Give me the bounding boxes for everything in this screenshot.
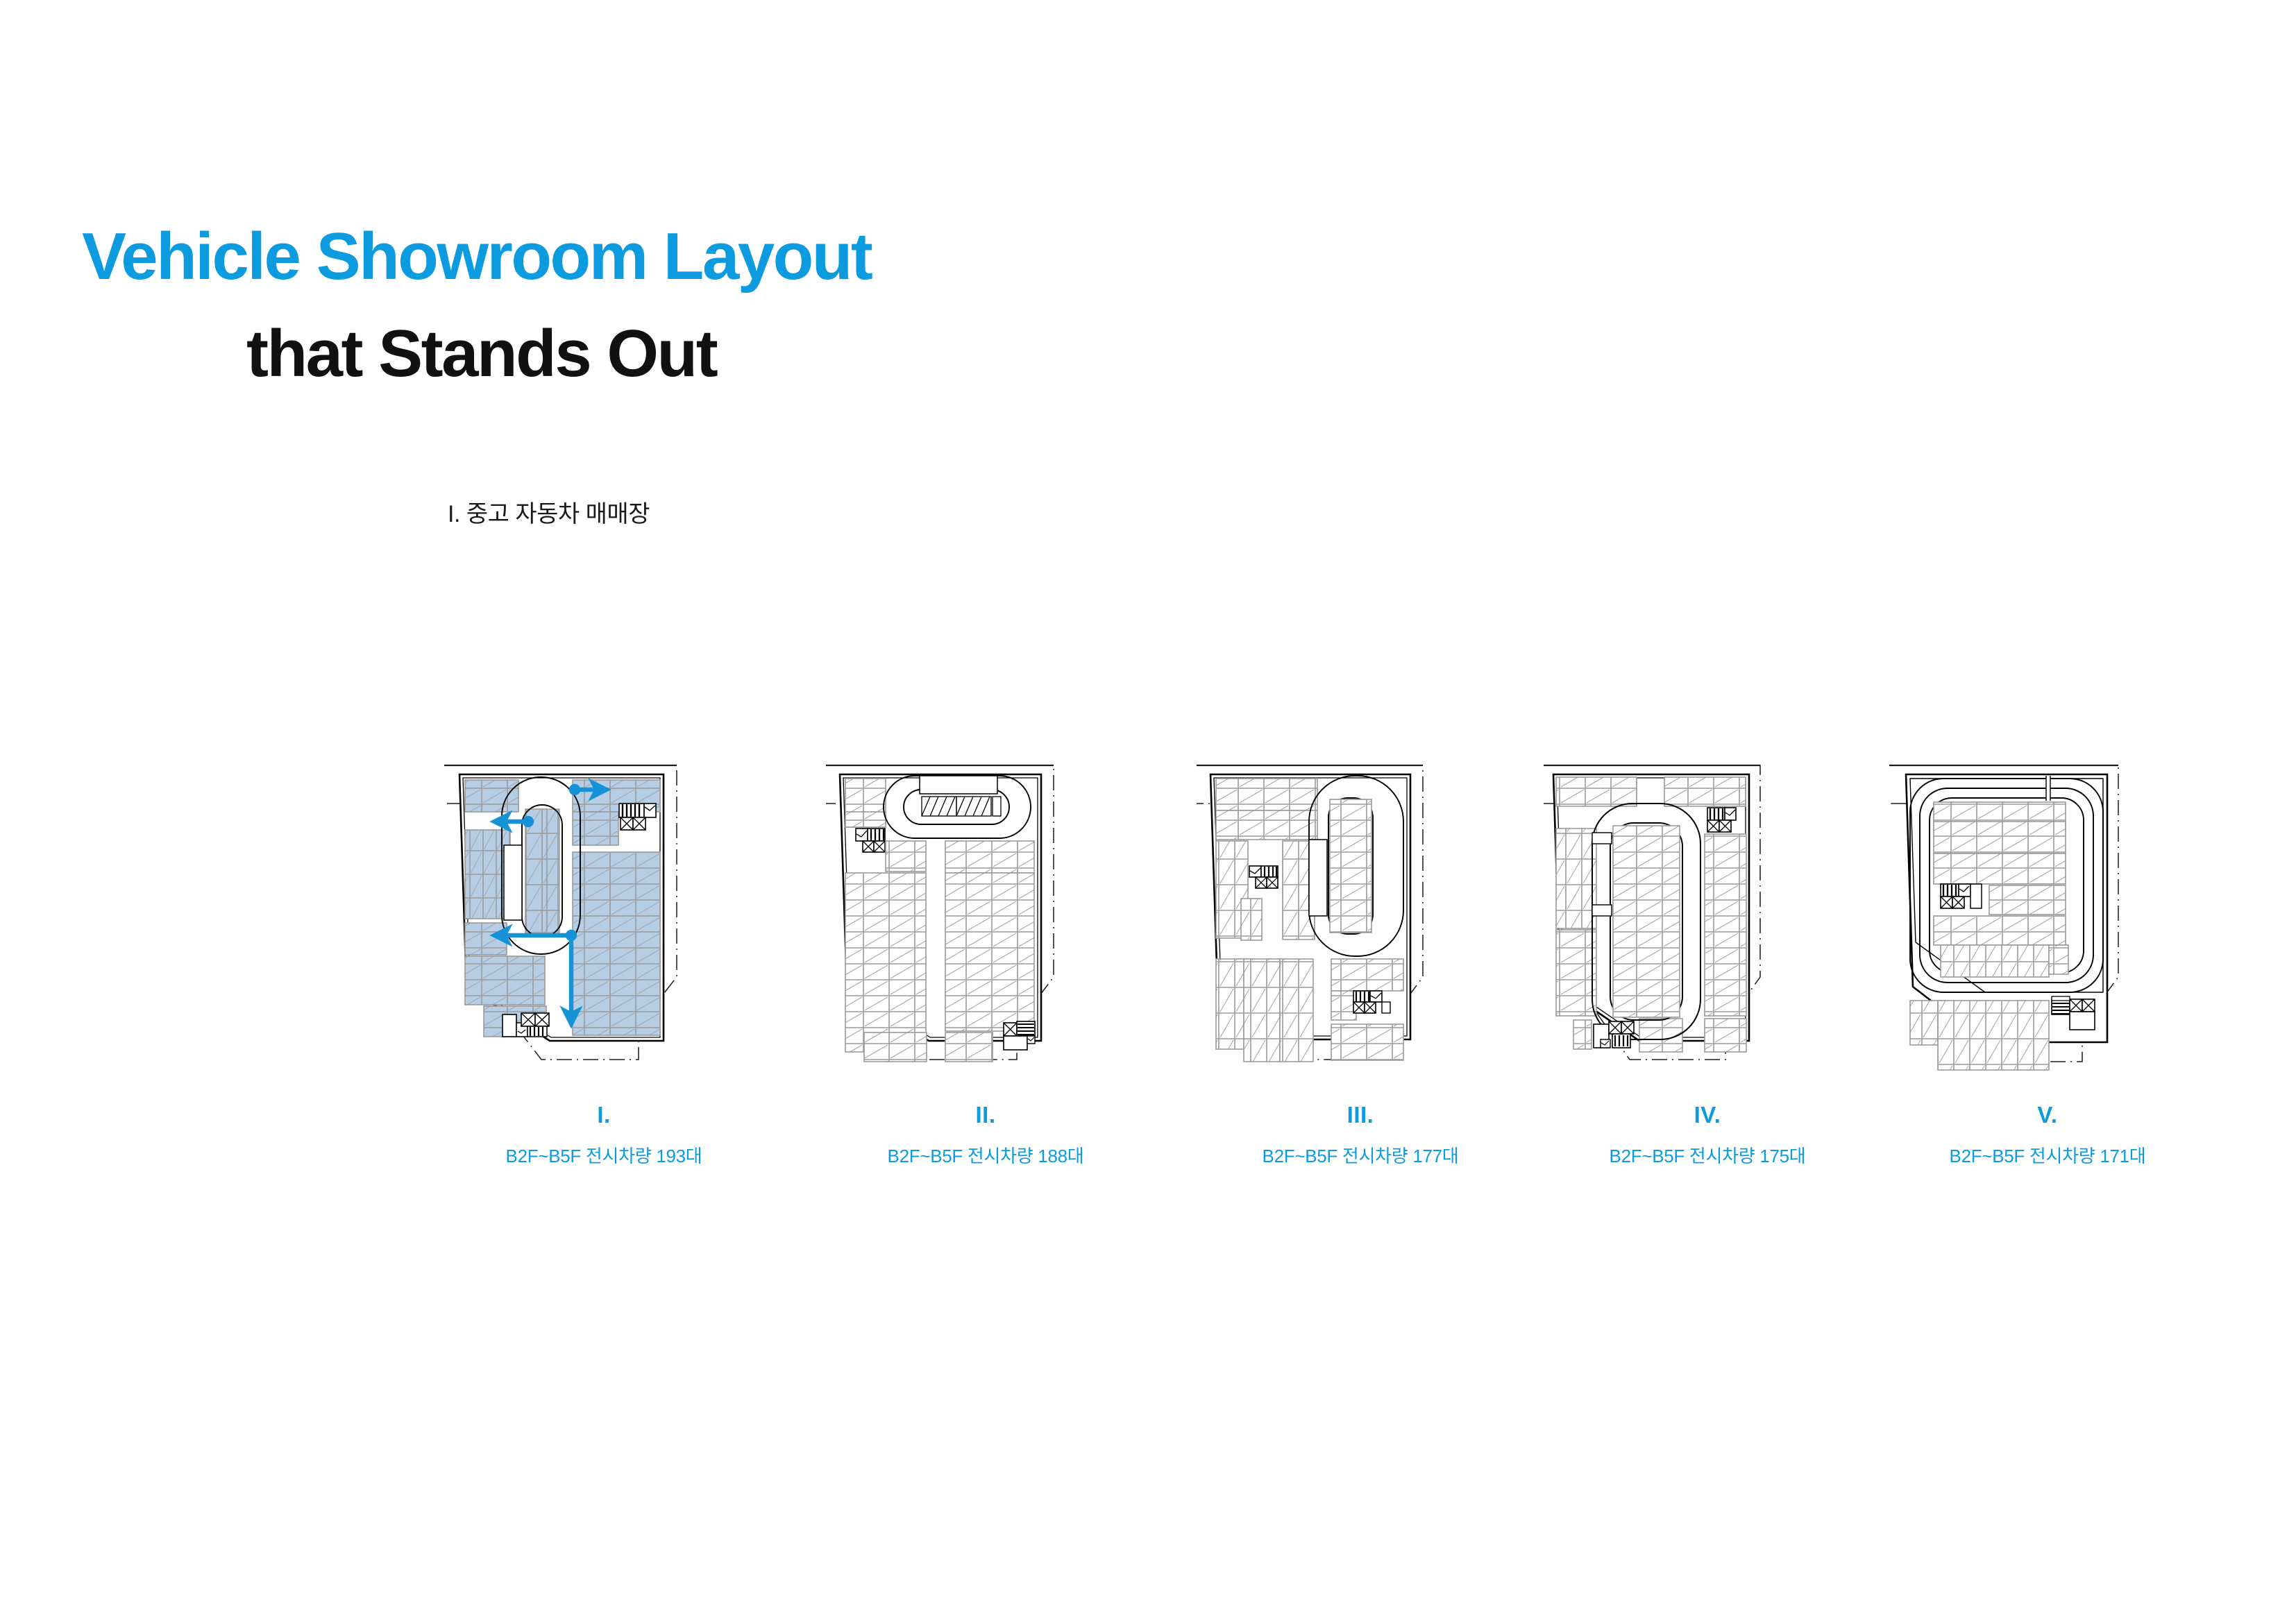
core-icon-lower bbox=[1004, 1021, 1035, 1050]
plan-card-2[interactable]: II. B2F~B5F 전시차량 188대 bbox=[812, 756, 1159, 1214]
plan-roman-5: V. bbox=[1874, 1102, 2221, 1128]
plan-caption-5: B2F~B5F 전시차량 171대 bbox=[1874, 1142, 2221, 1168]
page-title-line-2: that Stands Out bbox=[246, 321, 716, 387]
core-icon-upper bbox=[1941, 884, 1982, 908]
plan-roman-3: III. bbox=[1187, 1102, 1534, 1128]
plan-caption-1: B2F~B5F 전시차량 193대 bbox=[430, 1142, 777, 1168]
plan-card-4[interactable]: IV. B2F~B5F 전시차량 175대 bbox=[1534, 756, 1881, 1214]
plan-roman-1: I. bbox=[430, 1102, 777, 1128]
plan-roman-2: II. bbox=[812, 1102, 1159, 1128]
plan-drawing-3 bbox=[1187, 756, 1534, 1103]
floor-plan-strip: I. B2F~B5F 전시차량 193대 bbox=[0, 756, 2296, 1214]
plan-roman-4: IV. bbox=[1534, 1102, 1881, 1128]
plan-caption-4: B2F~B5F 전시차량 175대 bbox=[1534, 1142, 1881, 1168]
plan-drawing-1 bbox=[430, 756, 777, 1103]
plan-drawing-5 bbox=[1874, 756, 2221, 1103]
plan-caption-3: B2F~B5F 전시차량 177대 bbox=[1187, 1142, 1534, 1168]
core-icon-lower bbox=[503, 1013, 549, 1037]
plan-card-1[interactable]: I. B2F~B5F 전시차량 193대 bbox=[430, 756, 777, 1214]
core-icon-lower bbox=[1594, 1021, 1634, 1048]
section-heading: I. 중고 자동차 매매장 bbox=[448, 495, 650, 529]
plan-caption-2: B2F~B5F 전시차량 188대 bbox=[812, 1142, 1159, 1168]
plan-drawing-4 bbox=[1534, 756, 1881, 1103]
page-title-line-1: Vehicle Showroom Layout bbox=[82, 223, 871, 290]
plan-drawing-2 bbox=[812, 756, 1159, 1103]
plan-card-3[interactable]: III. B2F~B5F 전시차량 177대 bbox=[1187, 756, 1534, 1214]
plan-card-5[interactable]: V. B2F~B5F 전시차량 171대 bbox=[1874, 756, 2221, 1214]
